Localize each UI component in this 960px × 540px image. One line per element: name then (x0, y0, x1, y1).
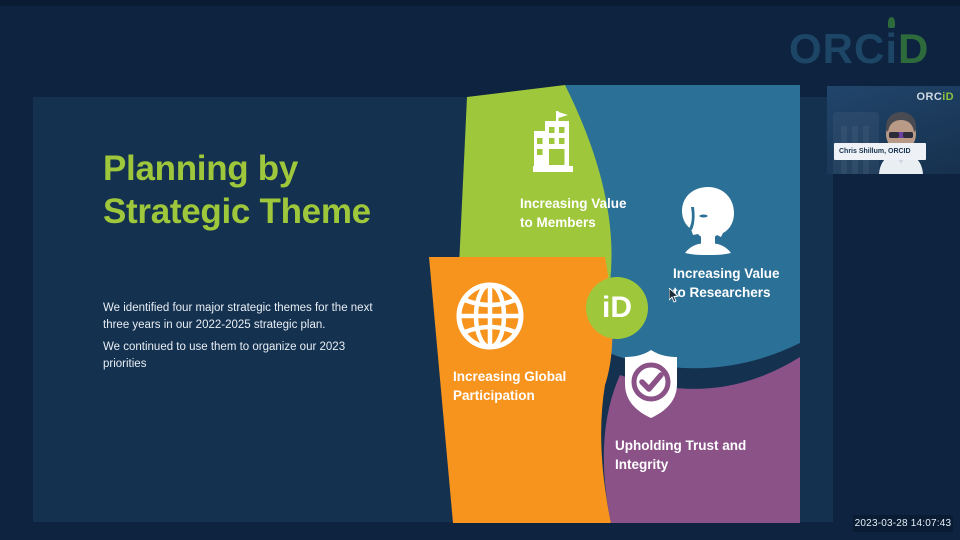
participant-name-label: Chris Shillum, ORCID (834, 143, 926, 160)
orcid-wordmark-orc: ORC (789, 25, 885, 72)
orcid-wordmark-d: D (898, 25, 929, 72)
quadrant-trust-shape (604, 357, 800, 523)
video-call-stage: ORCiD Planning by Strategic Theme We ide… (0, 0, 960, 540)
participant-silhouette (875, 108, 927, 174)
participant-video-tile[interactable]: ORCiD Chris Shillum, ORCID (827, 86, 960, 174)
recording-timestamp: 2023-03-28 14:07:43 (853, 515, 953, 532)
mouse-cursor (669, 288, 679, 303)
orcid-wordmark: ORCiD (789, 26, 935, 72)
orcid-wordmark-i: i (885, 26, 898, 72)
slide-paragraph-2: We continued to use them to organize our… (103, 339, 388, 372)
slide-paragraph-1: We identified four major strategic theme… (103, 300, 388, 333)
top-band (0, 0, 960, 6)
title-line-1: Planning by (103, 149, 298, 188)
strategic-theme-diagram: Increasing Value to Members Increasing V… (415, 85, 805, 525)
orcid-i-dot (888, 17, 895, 28)
orcid-id-badge-text: iD (602, 291, 632, 325)
title-line-2: Strategic Theme (103, 191, 433, 234)
page-title: Planning by Strategic Theme (103, 148, 433, 233)
thumbnail-orcid-logo: ORCiD (917, 91, 954, 103)
quadrant-global-shape (429, 257, 613, 523)
orcid-id-badge: iD (586, 277, 648, 339)
